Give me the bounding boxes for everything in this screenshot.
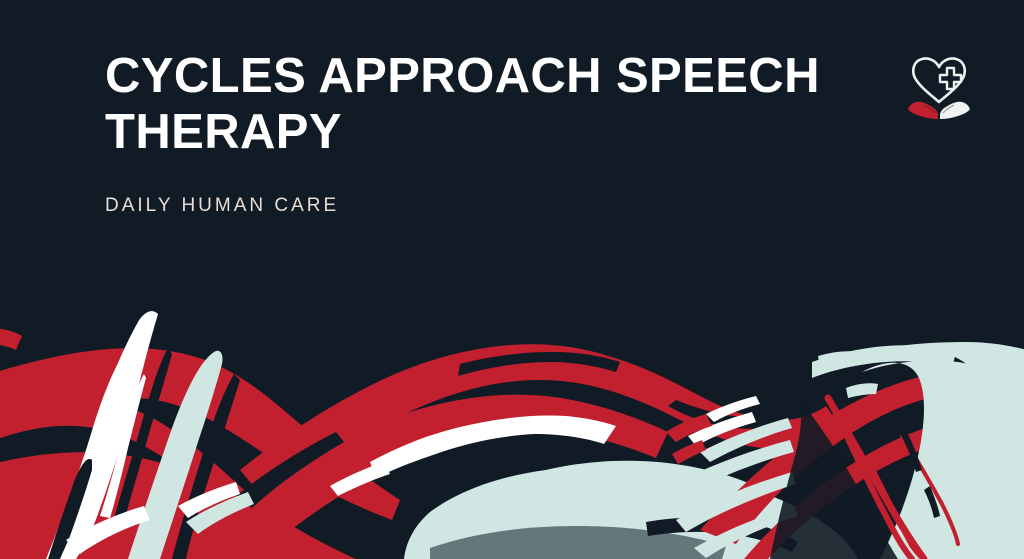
poster-canvas: Cycles Approach Speech Therapy Daily Hum… (0, 0, 1024, 559)
brush-white-left-sliver (100, 374, 146, 518)
brush-red-far-left-fleck (0, 328, 22, 350)
brush-red-thin-line-3 (872, 468, 924, 559)
heart-hands-medical-cross-icon (902, 50, 976, 124)
brush-mint-center-mass (404, 466, 858, 559)
brush-white-bottom-left (66, 482, 240, 554)
brush-mint-right-fragment (818, 351, 878, 398)
brush-white-left-main (46, 311, 158, 559)
header-text-block: Cycles Approach Speech Therapy Daily Hum… (105, 48, 895, 218)
brush-mint-bottom-left (186, 492, 254, 534)
brush-ink-left-c (48, 459, 92, 559)
brush-red-center (240, 344, 840, 508)
right-hand-icon (940, 102, 970, 119)
brush-ink-bottom-b (646, 518, 798, 553)
page-subtitle: Daily Human Care (105, 194, 895, 218)
brush-white-right-fleck (688, 396, 760, 446)
brush-ink-left-a (112, 348, 172, 528)
brush-ink-center-b (668, 400, 784, 429)
brush-red-left (0, 348, 400, 520)
brush-mint-right-upper (812, 345, 956, 378)
brush-red-right-lower (744, 413, 1024, 559)
brush-red-thin-line-4 (902, 436, 958, 544)
left-hand-icon (908, 102, 938, 119)
brush-ink-right-speckle (900, 430, 940, 518)
brush-white-center (370, 416, 616, 479)
brush-mint-right-body (862, 360, 1022, 559)
brush-red-center-lower (200, 395, 668, 552)
brush-red-right (700, 369, 1024, 544)
page-title: Cycles Approach Speech Therapy (105, 48, 895, 160)
brush-mint-left-main (128, 351, 223, 559)
brush-ink-center-a (458, 352, 620, 376)
brush-red-right-fleck (666, 414, 712, 464)
brush-mint-right-mass (886, 342, 1024, 559)
brush-red-left-lower (0, 452, 356, 559)
brush-red-left-tail (0, 398, 290, 544)
brush-white-left-secondary (56, 346, 133, 559)
brush-red-thin-line-1 (828, 398, 924, 559)
brush-ink-left-b (172, 374, 240, 559)
brush-ink-right-wedge (770, 400, 898, 559)
brush-mint-left-secondary (140, 392, 199, 559)
brush-white-center-flecks (330, 438, 448, 496)
brush-mint-right-drystreaks (660, 418, 798, 558)
brush-ink-bottom-a (430, 526, 726, 559)
brush-ink-center-c (236, 432, 344, 508)
brand-logo[interactable] (902, 50, 976, 124)
brush-red-thin-line-2 (836, 412, 912, 559)
brush-mint-center-edge (512, 461, 764, 504)
